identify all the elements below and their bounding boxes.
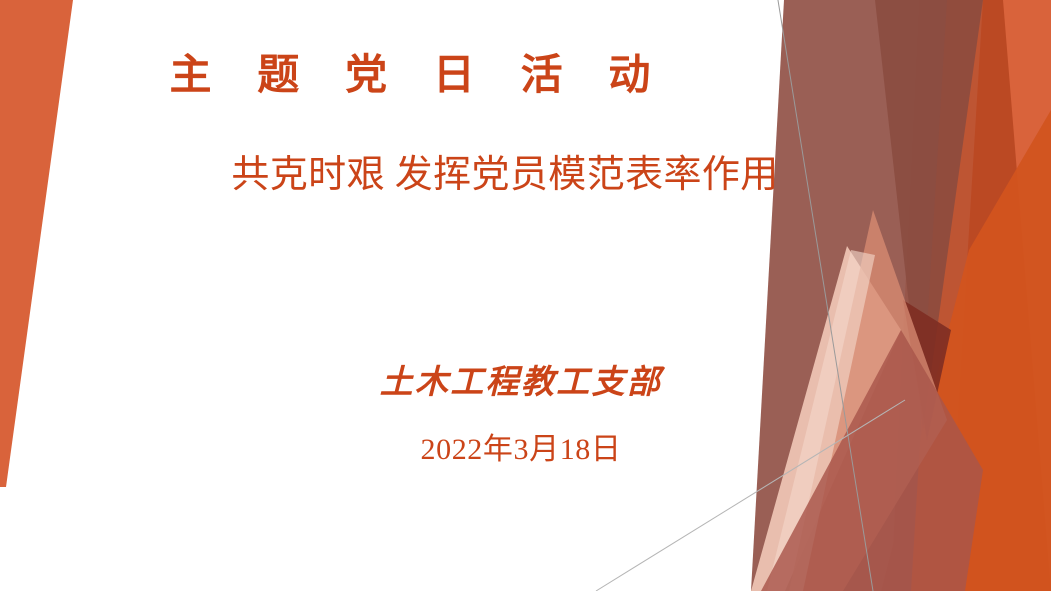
presentation-slide: 主 题 党 日 活 动 共克时艰 发挥党员模范表率作用 土木工程教工支部 202… <box>0 0 1051 591</box>
slide-content: 主 题 党 日 活 动 共克时艰 发挥党员模范表率作用 土木工程教工支部 202… <box>0 0 1051 591</box>
slide-title: 主 题 党 日 活 动 <box>0 52 820 102</box>
organization-name: 土木工程教工支部 <box>0 362 1042 402</box>
slide-date: 2022年3月18日 <box>0 432 1042 468</box>
slide-subtitle: 共克时艰 发挥党员模范表率作用 <box>0 152 1010 200</box>
